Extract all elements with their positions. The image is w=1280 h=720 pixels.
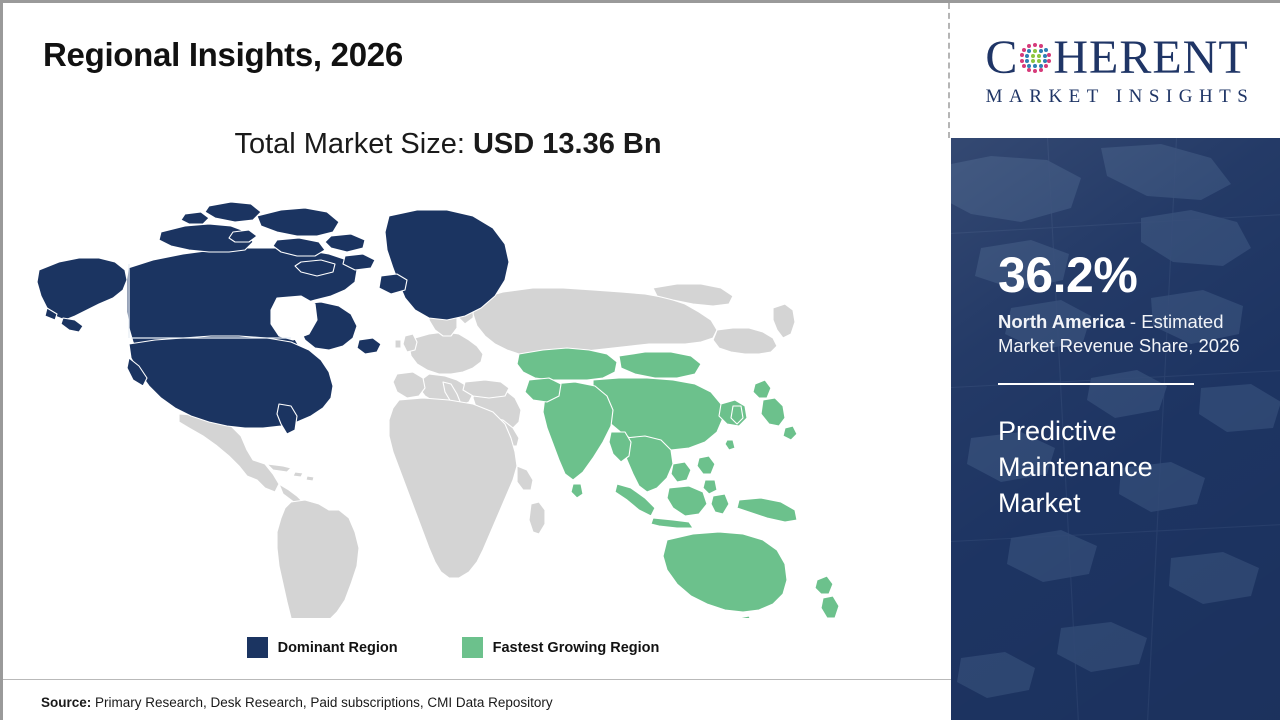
legend-swatch-dominant (247, 637, 268, 658)
regional-insights-infographic: Regional Insights, 2026 Total Market Siz… (0, 0, 1280, 720)
vertical-dashed-divider (948, 3, 950, 138)
logo-subtitle: MARKET INSIGHTS (967, 86, 1267, 108)
legend-item-fastest-growing: Fastest Growing Region (462, 637, 660, 658)
logo-word-rest: HERENT (1053, 34, 1248, 82)
total-market-size-value: USD 13.36 Bn (473, 128, 662, 160)
total-market-size-label: Total Market Size: (234, 128, 473, 160)
revenue-share-region: North America (998, 311, 1125, 332)
world-map-svg (33, 188, 863, 618)
left-panel: Regional Insights, 2026 Total Market Siz… (3, 3, 951, 720)
source-divider (3, 679, 951, 680)
page-title: Regional Insights, 2026 (43, 36, 403, 74)
logo-letter-c: C (985, 34, 1018, 82)
panel-content: 36.2% North America - Estimated Market R… (998, 138, 1266, 522)
regional-highlight-panel: 36.2% North America - Estimated Market R… (951, 138, 1280, 720)
source-note: Source: Primary Research, Desk Research,… (41, 695, 553, 710)
coherent-market-insights-logo: C (967, 34, 1267, 108)
map-region-asia-pacific (517, 348, 839, 618)
brand-logo-container[interactable]: C (951, 3, 1280, 138)
legend-label-dominant: Dominant Region (278, 640, 398, 656)
legend-swatch-fastest-growing (462, 637, 483, 658)
revenue-share-caption: North America - Estimated Market Revenue… (998, 310, 1262, 359)
legend-label-fastest-growing: Fastest Growing Region (493, 640, 660, 656)
logo-wordmark: C (967, 34, 1267, 82)
total-market-size: Total Market Size: USD 13.36 Bn (3, 128, 893, 161)
map-legend: Dominant Region Fastest Growing Region (3, 637, 903, 658)
source-label: Source: (41, 695, 91, 710)
world-map-container (33, 188, 863, 618)
market-name: Predictive Maintenance Market (998, 414, 1238, 522)
globe-dots-icon (1018, 41, 1052, 75)
legend-item-dominant: Dominant Region (247, 637, 398, 658)
revenue-share-percent: 36.2% (998, 250, 1266, 300)
panel-divider (998, 383, 1194, 385)
source-text: Primary Research, Desk Research, Paid su… (91, 695, 552, 710)
